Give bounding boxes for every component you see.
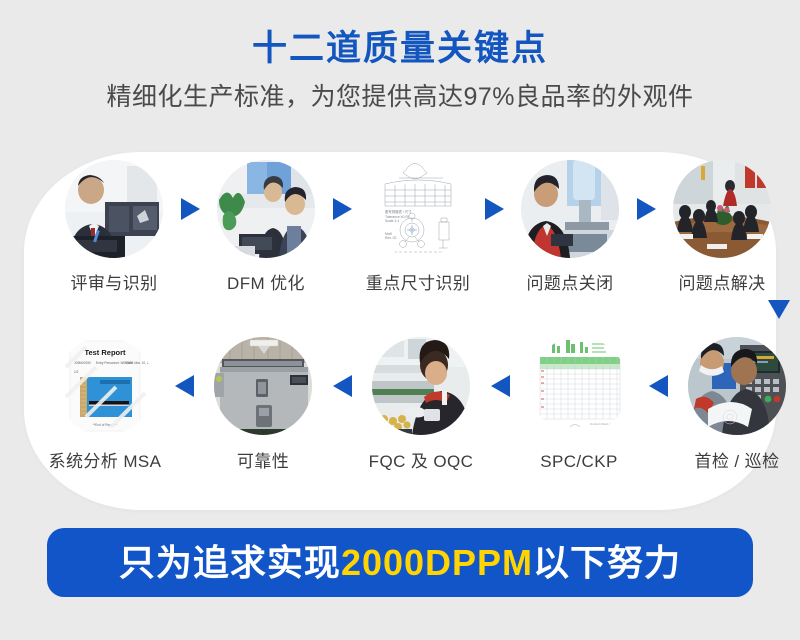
photo-engineer-at-desk [65, 160, 163, 258]
flow-step-label: FQC 及 OQC [369, 453, 474, 470]
flow-arrow-5 [166, 337, 202, 435]
photo-operators-at-cnc-panel [688, 337, 786, 435]
flow-arrow-4 [628, 160, 664, 258]
flow-step-reliability[interactable]: 可靠性 [202, 337, 324, 470]
page-subtitle: 精细化生产标准，为您提供高达97%良品率的外观件 [0, 69, 800, 112]
svg-text:图号规格表 / 尺寸: 图号规格表 / 尺寸 [385, 209, 412, 214]
page-title: 十二道质量关键点 [0, 0, 800, 69]
slogan-text-after: 以下努力 [533, 542, 681, 583]
photo-spc-control-spreadsheet: Control Chart / SPC [530, 337, 628, 435]
slogan-text: 只为追求实现2000DPPM以下努力 [119, 545, 681, 581]
flow-arrow-3 [476, 160, 512, 258]
flow-step-review-and-identify[interactable]: 评审与识别 [56, 160, 172, 292]
flow-step-issue-resolution[interactable]: 问题点解决 [664, 160, 780, 292]
triangle-right-icon [333, 198, 352, 220]
svg-text:Rev. 02: Rev. 02 [385, 236, 397, 240]
process-flow-row-1: 评审与识别 [24, 160, 800, 320]
triangle-down-icon [768, 300, 790, 319]
triangle-right-icon [181, 198, 200, 220]
flow-step-key-dimension-identification[interactable]: 图号规格表 / 尺寸 Tolerance ±0.05 Scale 1:1 Mat… [360, 160, 476, 292]
flow-arrow-8 [640, 337, 676, 435]
triangle-right-icon [485, 198, 504, 220]
flow-step-first-and-patrol-inspection[interactable]: 首检 / 巡检 [676, 337, 798, 470]
photo-measuring-machine-operator [521, 160, 619, 258]
page-header: 十二道质量关键点 精细化生产标准，为您提供高达97%良品率的外观件 [0, 0, 800, 112]
flow-arrow-6 [324, 337, 360, 435]
flow-step-fqc-oqc[interactable]: FQC 及 OQC [360, 337, 482, 470]
triangle-right-icon [637, 198, 656, 220]
svg-text:JOB#00190: JOB#00190 [74, 361, 91, 365]
flow-step-label: 问题点关闭 [527, 275, 614, 292]
process-flow-panel: 评审与识别 [24, 152, 776, 510]
photo-reliability-test-chamber [214, 337, 312, 435]
slogan-banner: 只为追求实现2000DPPM以下努力 [47, 528, 753, 597]
flow-step-spc-ckp[interactable]: Control Chart / SPC SPC/CKP [518, 337, 640, 470]
flow-step-label: 评审与识别 [71, 275, 158, 292]
flow-step-label: 问题点解决 [679, 275, 766, 292]
flow-step-label: DFM 优化 [227, 275, 305, 292]
triangle-left-icon [491, 375, 510, 397]
flow-step-label: 首检 / 巡检 [695, 453, 780, 470]
process-flow-row-2: Test Report JOB#00190 Entry Personnel: W… [24, 337, 796, 497]
flow-arrow-1 [172, 160, 208, 258]
triangle-left-icon [175, 375, 194, 397]
flow-step-label: 系统分析 MSA [49, 453, 162, 470]
svg-text:Control Chart / SPC: Control Chart / SPC [590, 422, 617, 426]
slogan-highlight: 2000DPPM [341, 542, 533, 583]
flow-arrow-7 [482, 337, 518, 435]
photo-technical-drawing: 图号规格表 / 尺寸 Tolerance ±0.05 Scale 1:1 Mat… [369, 160, 467, 258]
flow-step-label: SPC/CKP [540, 453, 617, 470]
svg-text:Date: Mar. 10, 2020: Date: Mar. 10, 2020 [126, 361, 154, 365]
flow-arrow-2 [324, 160, 360, 258]
svg-text:Test Report: Test Report [84, 348, 126, 357]
photo-test-report-document: Test Report JOB#00190 Entry Personnel: W… [56, 337, 154, 435]
photo-meeting-room-discussion [673, 160, 771, 258]
photo-team-reviewing-design [217, 160, 315, 258]
flow-step-label: 重点尺寸识别 [366, 275, 470, 292]
photo-inspector-at-workbench [372, 337, 470, 435]
flow-step-label: 可靠性 [237, 453, 289, 470]
flow-step-dfm-optimization[interactable]: DFM 优化 [208, 160, 324, 292]
slogan-text-before: 只为追求实现 [119, 542, 341, 583]
flow-step-issue-closure[interactable]: 问题点关闭 [512, 160, 628, 292]
flow-step-msa-system-analysis[interactable]: Test Report JOB#00190 Entry Personnel: W… [44, 337, 166, 470]
triangle-left-icon [649, 375, 668, 397]
triangle-left-icon [333, 375, 352, 397]
svg-text:Scale 1:1: Scale 1:1 [385, 219, 399, 223]
svg-text:1/2: 1/2 [74, 370, 79, 374]
